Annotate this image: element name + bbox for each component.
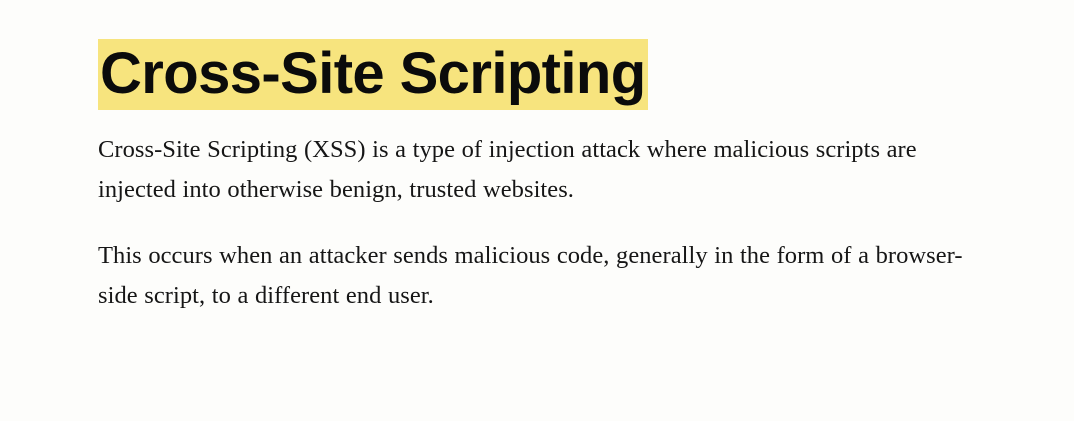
page-title-wrap: Cross-Site Scripting [98,42,998,107]
article-body: Cross-Site Scripting (XSS) is a type of … [98,130,970,316]
article-container: Cross-Site Scripting Cross-Site Scriptin… [0,0,1074,421]
paragraph-mechanism: This occurs when an attacker sends malic… [98,236,970,316]
page-title: Cross-Site Scripting [98,39,648,110]
paragraph-definition: Cross-Site Scripting (XSS) is a type of … [98,130,970,210]
